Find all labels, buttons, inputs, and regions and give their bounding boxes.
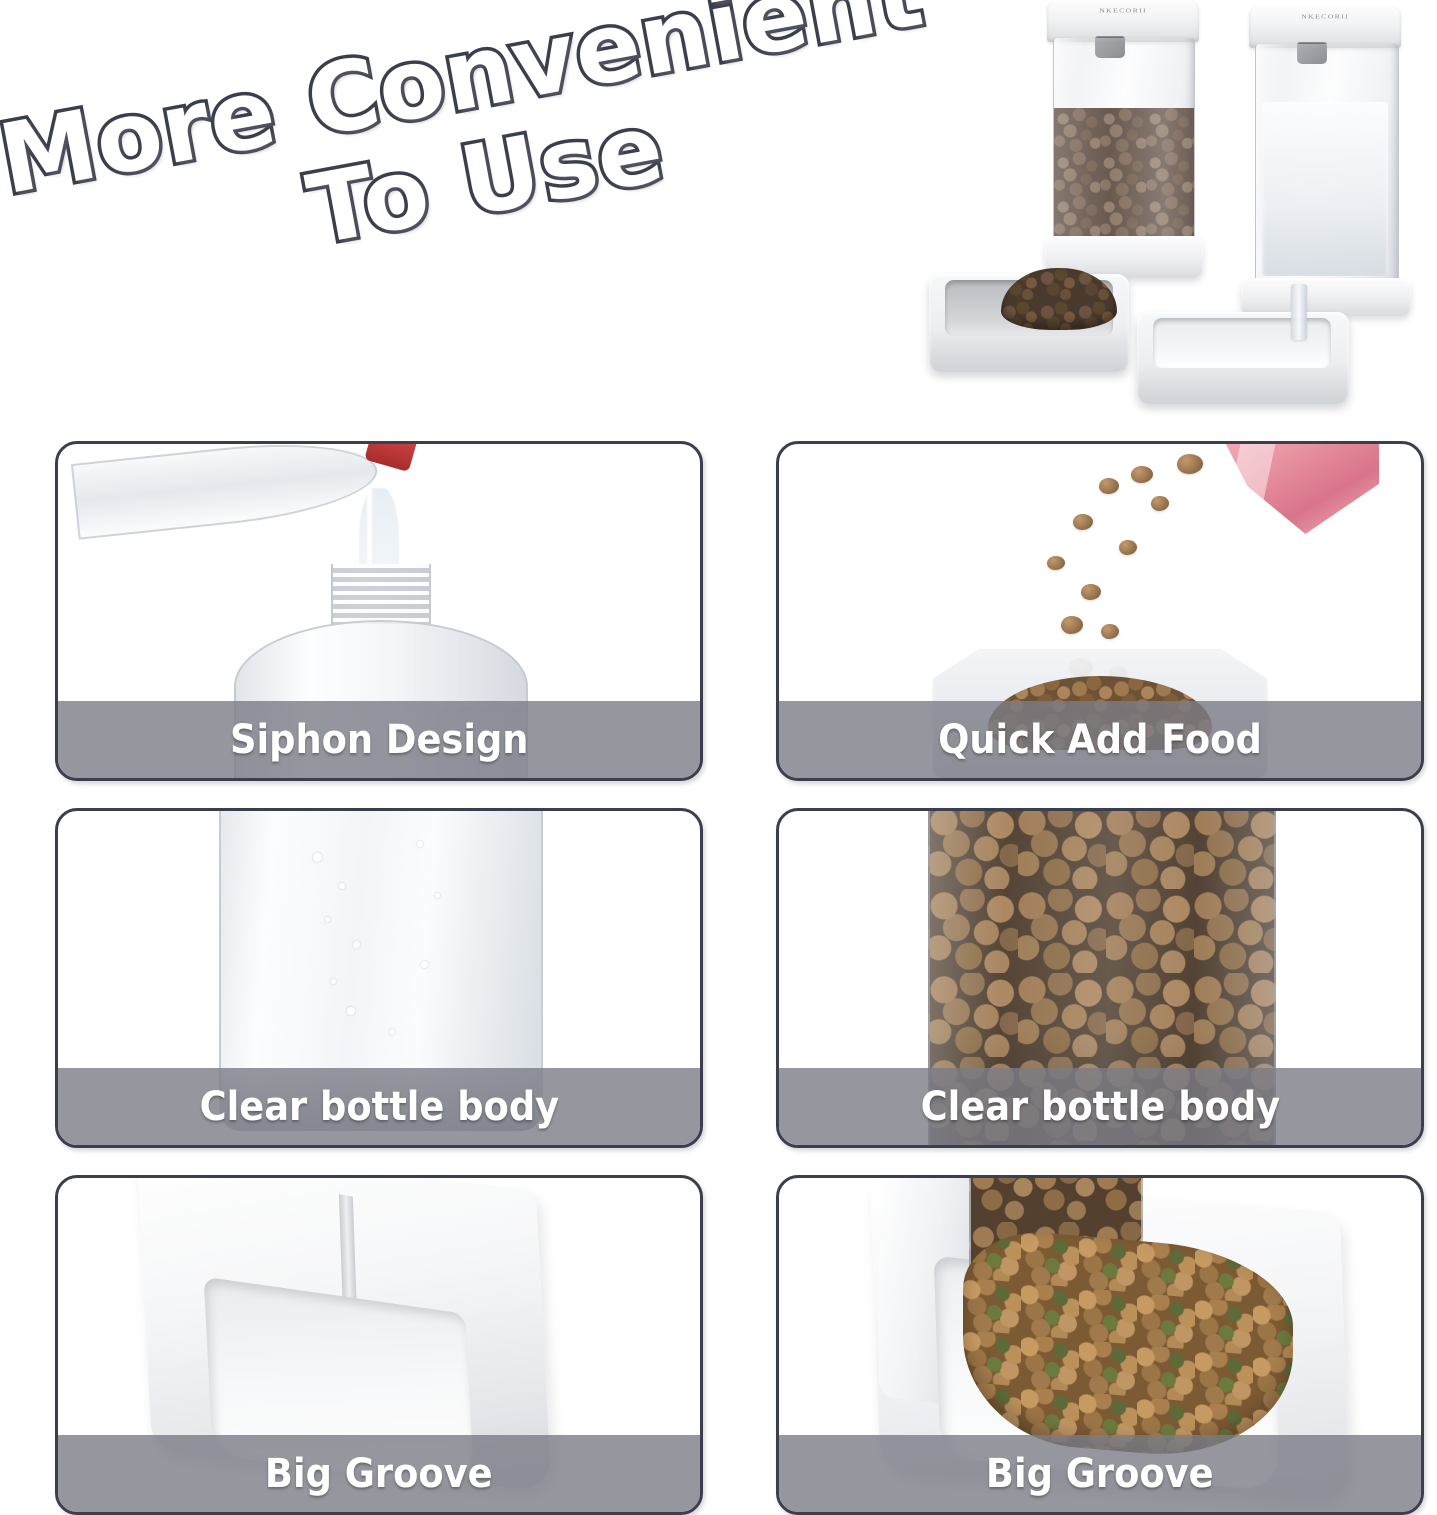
water-droplet xyxy=(313,853,322,862)
caption-label: Siphon Design xyxy=(230,717,529,763)
feature-card-big-groove-water[interactable]: Big Groove xyxy=(55,1175,703,1515)
food-lid-brand-text: NKECORII xyxy=(1047,7,1199,14)
caption-label: Quick Add Food xyxy=(938,717,1262,763)
water-siphon-spout xyxy=(1291,284,1307,340)
caption-label: Big Groove xyxy=(986,1451,1214,1497)
feature-card-big-groove-food[interactable]: Big Groove xyxy=(776,1175,1424,1515)
caption-bar: Big Groove xyxy=(779,1435,1421,1512)
tank-shoulder xyxy=(234,620,528,714)
feature-card-siphon-design[interactable]: Siphon Design xyxy=(55,441,703,781)
kibble-piece xyxy=(1099,478,1119,494)
caption-label: Clear bottle body xyxy=(199,1084,559,1130)
caption-bar: Quick Add Food xyxy=(779,701,1421,778)
water-droplet xyxy=(325,917,330,922)
water-tank-body xyxy=(1255,44,1399,291)
water-droplet xyxy=(331,979,336,984)
feature-card-quick-add-food[interactable]: Quick Add Food xyxy=(776,441,1424,781)
kibble-piece xyxy=(1081,584,1101,600)
water-droplet xyxy=(421,961,428,968)
caption-bar: Big Groove xyxy=(58,1435,700,1512)
food-tank-body xyxy=(1053,38,1195,249)
water-droplet xyxy=(347,1007,355,1015)
food-tank-kibble xyxy=(1054,108,1194,248)
water-base-unit xyxy=(1241,278,1411,316)
feature-card-clear-bottle-body-water[interactable]: Clear bottle body xyxy=(55,808,703,1148)
water-droplet xyxy=(353,941,360,948)
tank-neck xyxy=(331,564,431,624)
caption-bar: Clear bottle body xyxy=(779,1068,1421,1145)
caption-bar: Siphon Design xyxy=(58,701,700,778)
page-title-line-2: To Use xyxy=(6,82,752,317)
page-title: More Convenient To Use xyxy=(0,0,769,408)
pouring-bottle xyxy=(71,444,381,540)
bottle-cap-icon xyxy=(364,444,419,472)
water-lid-brand-text: NKECORII xyxy=(1249,13,1401,20)
kibble-piece xyxy=(1151,496,1169,511)
tank-neck-threads xyxy=(333,564,429,624)
kibble-piece xyxy=(1061,616,1083,634)
kibble-piece xyxy=(1177,454,1203,474)
water-droplet xyxy=(417,841,423,847)
kibble-piece xyxy=(1047,556,1065,570)
kibble-piece xyxy=(1101,624,1119,639)
water-droplet xyxy=(389,1029,395,1035)
water-droplet xyxy=(339,883,345,889)
kibble-piece xyxy=(1131,466,1153,483)
kibble-piece xyxy=(1119,540,1137,555)
water-tank-water xyxy=(1262,102,1388,276)
kibble-piece xyxy=(1073,514,1093,530)
water-droplet xyxy=(435,893,440,898)
feature-card-grid: Siphon Design Quick Add Food xyxy=(55,441,1424,1515)
page-title-line-1: More Convenient xyxy=(0,0,733,213)
caption-label: Big Groove xyxy=(265,1451,493,1497)
caption-bar: Clear bottle body xyxy=(58,1068,700,1145)
caption-label: Clear bottle body xyxy=(920,1084,1280,1130)
pet-food-bag xyxy=(1219,444,1379,534)
feature-card-clear-bottle-body-food[interactable]: Clear bottle body xyxy=(776,808,1424,1148)
hero-product-image: NKECORII NKECORII xyxy=(905,0,1435,422)
